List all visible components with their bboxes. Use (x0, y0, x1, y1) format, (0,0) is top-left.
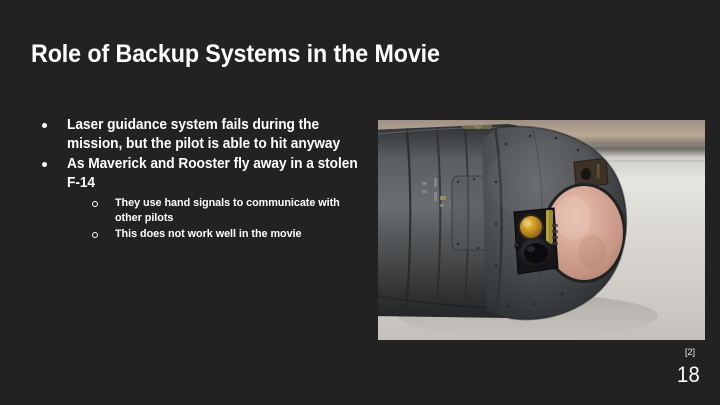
disc-bullet-icon (42, 123, 47, 128)
sub-bullet-text: They use hand signals to communicate wit… (115, 196, 368, 226)
list-item: As Maverick and Rooster fly away in a st… (31, 155, 369, 242)
bullet-text: As Maverick and Rooster fly away in a st… (67, 155, 368, 193)
slide-page-number: 18 (677, 362, 700, 388)
presentation-slide: Role of Backup Systems in the Movie Lase… (0, 0, 720, 405)
targeting-pod-photo (378, 120, 705, 340)
citation-reference: [2] (685, 347, 695, 357)
list-item: This does not work well in the movie (83, 227, 369, 242)
sub-bullet-container: They use hand signals to communicate wit… (67, 196, 369, 242)
bullet-list-container: Laser guidance system fails during the m… (31, 116, 369, 243)
sub-bullet-text: This does not work well in the movie (115, 227, 368, 242)
page-title: Role of Backup Systems in the Movie (31, 40, 626, 69)
bullet-text: Laser guidance system fails during the m… (67, 116, 368, 154)
bullet-list-level1: Laser guidance system fails during the m… (31, 116, 369, 242)
targeting-pod-illustration (378, 120, 705, 340)
circle-bullet-icon (92, 232, 98, 238)
list-item: Laser guidance system fails during the m… (31, 116, 369, 154)
bullet-list-level2: They use hand signals to communicate wit… (83, 196, 369, 242)
disc-bullet-icon (42, 162, 47, 167)
circle-bullet-icon (92, 201, 98, 207)
list-item: They use hand signals to communicate wit… (83, 196, 369, 226)
